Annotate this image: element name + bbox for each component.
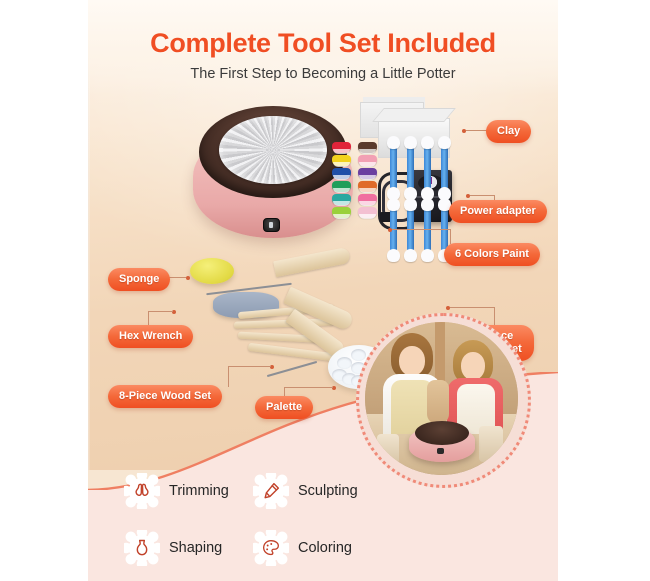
paint-pot xyxy=(332,194,351,205)
feature-coloring[interactable]: Coloring xyxy=(253,530,352,566)
wheel-power-switch xyxy=(263,218,280,232)
paint-pot xyxy=(358,142,377,153)
paint-pot xyxy=(358,155,377,166)
paint-pot xyxy=(332,181,351,192)
plastic-tool xyxy=(390,146,397,190)
page-title: Complete Tool Set Included xyxy=(88,28,558,59)
callout-power-adapter[interactable]: Power adapter xyxy=(449,200,547,223)
palette-well xyxy=(337,357,352,369)
paint-pot xyxy=(332,142,351,153)
hands-icon xyxy=(132,481,152,501)
feature-label: Shaping xyxy=(169,540,222,556)
product-infographic-card: Complete Tool Set Included The First Ste… xyxy=(88,0,558,581)
lifestyle-photo xyxy=(356,313,531,488)
feature-label: Sculpting xyxy=(298,483,358,499)
callout-hex-wrench[interactable]: Hex Wrench xyxy=(108,325,193,348)
feature-badge xyxy=(253,530,289,566)
vase-icon xyxy=(132,538,152,558)
paint-pot xyxy=(332,207,351,218)
palette-well xyxy=(351,349,366,361)
page-subtitle: The First Step to Becoming a Little Pott… xyxy=(88,66,558,82)
callout-wood-set[interactable]: 8-Piece Wood Set xyxy=(108,385,222,408)
feature-badge xyxy=(124,473,160,509)
callout-sponge[interactable]: Sponge xyxy=(108,268,170,291)
feature-sculpting[interactable]: Sculpting xyxy=(253,473,358,509)
feature-label: Coloring xyxy=(298,540,352,556)
paint-pot xyxy=(358,194,377,205)
pen-tool-icon xyxy=(261,481,281,501)
feature-trimming[interactable]: Trimming xyxy=(124,473,229,509)
leader-dot-sponge xyxy=(186,276,190,280)
wheel-turntable xyxy=(219,116,327,184)
paint-pot xyxy=(358,207,377,218)
callout-paint[interactable]: 6 Colors Paint xyxy=(444,243,540,266)
leader-line-wood-set xyxy=(228,366,271,387)
photo-dotted-ring xyxy=(356,313,531,488)
feature-badge xyxy=(124,530,160,566)
leader-line-hex-wrench xyxy=(148,311,173,326)
sponge-product xyxy=(190,258,234,284)
plastic-tool xyxy=(407,146,414,190)
paint-pot xyxy=(332,168,351,179)
plastic-tool xyxy=(441,146,448,190)
feature-label: Trimming xyxy=(169,483,229,499)
callout-palette[interactable]: Palette xyxy=(255,396,313,419)
plastic-tool xyxy=(424,146,431,190)
feature-badge xyxy=(253,473,289,509)
feature-shaping[interactable]: Shaping xyxy=(124,530,222,566)
paint-pot xyxy=(358,168,377,179)
leader-line-paint xyxy=(392,229,451,244)
paint-pot xyxy=(332,155,351,166)
callout-clay[interactable]: Clay xyxy=(486,120,531,143)
paint-palette-icon xyxy=(261,538,281,558)
paint-pot xyxy=(358,181,377,192)
